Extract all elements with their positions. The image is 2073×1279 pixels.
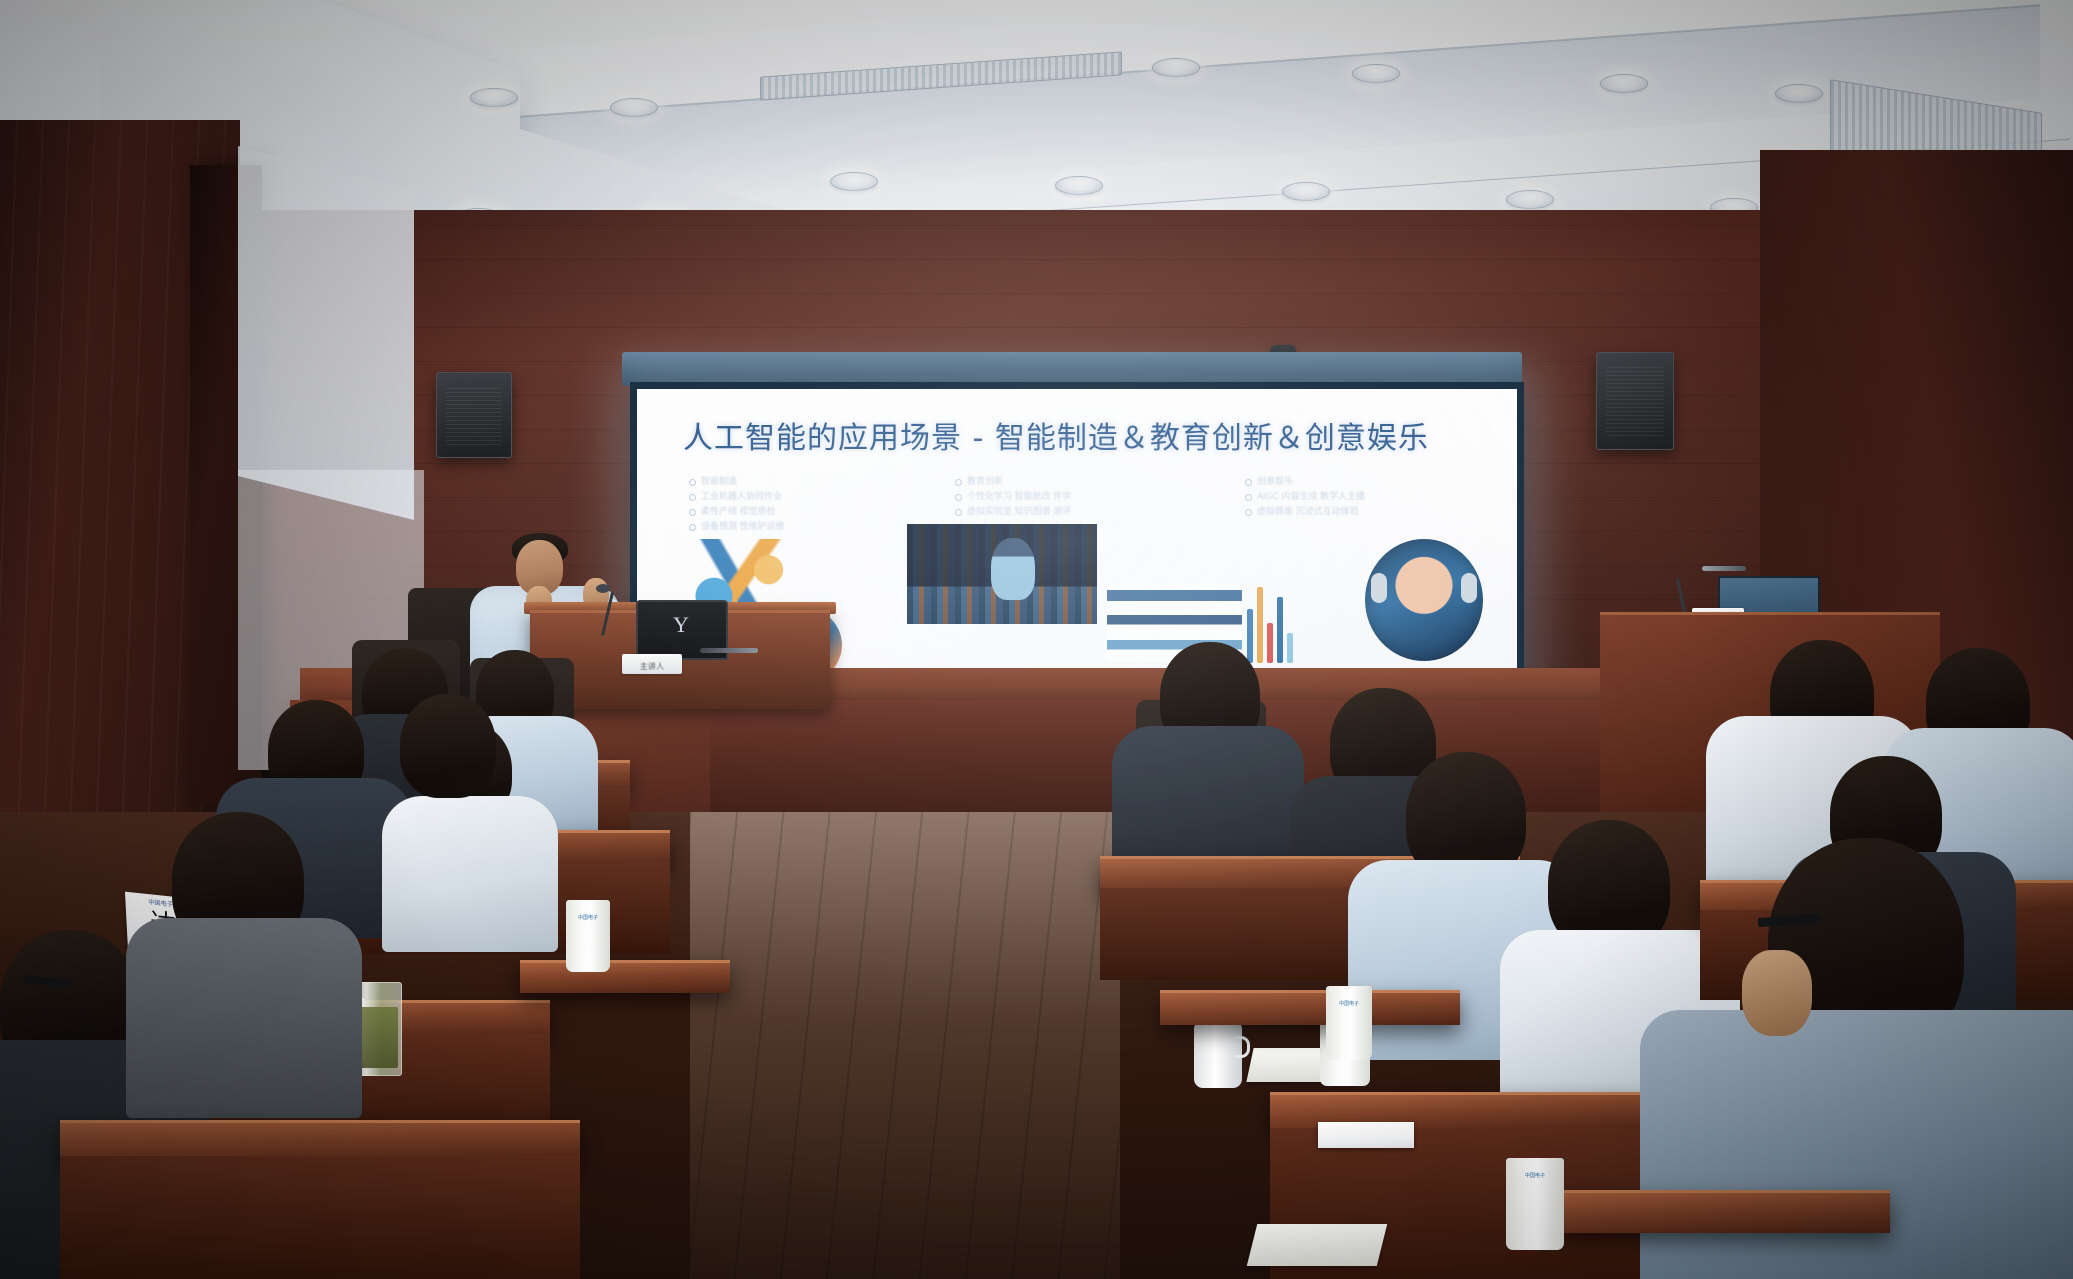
conference-room-photo: 人工智能的应用场景 - 智能制造＆教育创新＆创意娱乐 智能制造 工业机器人协同作… bbox=[0, 0, 2073, 1279]
audience-torso bbox=[1640, 1010, 2073, 1279]
ai-digital-human-avatar-illustration bbox=[1365, 539, 1483, 661]
left-wall-light-panel bbox=[238, 146, 414, 520]
downlight-icon bbox=[470, 88, 518, 107]
desk bbox=[1560, 1190, 1890, 1233]
paper-cup: 中国电子 bbox=[1506, 1158, 1564, 1250]
paper-cup: 中国电子 bbox=[566, 900, 610, 972]
downlight-icon bbox=[1055, 176, 1103, 195]
slide-column-2: 教育创新 个性化学习 智能批改 伴学 虚拟实验室 知识图谱 测评 bbox=[955, 475, 1165, 520]
downlight-icon bbox=[1282, 182, 1330, 201]
slide-col2-bullet-2: 虚拟实验室 知识图谱 测评 bbox=[967, 505, 1071, 518]
paper-cup: 中国电子 bbox=[1326, 986, 1372, 1060]
audience-head bbox=[400, 694, 496, 798]
audience-torso bbox=[382, 796, 558, 952]
desk bbox=[1160, 990, 1460, 1025]
ceiling-speaker-left bbox=[436, 372, 512, 458]
ceramic-mug bbox=[1194, 1024, 1242, 1088]
microphone-icon bbox=[596, 584, 610, 593]
downlight-icon bbox=[830, 172, 878, 191]
slide-col1-heading: 智能制造 bbox=[701, 475, 737, 488]
student-studying-illustration bbox=[907, 524, 1097, 624]
bullet-dot-icon bbox=[1245, 479, 1252, 486]
bullet-dot-icon bbox=[689, 524, 696, 531]
cup-logo-text: 中国电子 bbox=[1506, 1172, 1564, 1179]
slide-col3-heading: 创意娱乐 bbox=[1257, 475, 1293, 488]
screen-mount-rail bbox=[622, 352, 1522, 386]
bullet-dot-icon bbox=[955, 479, 962, 486]
audience-hand bbox=[1742, 950, 1812, 1036]
presenter-nameplate-text: 主讲人 bbox=[622, 657, 682, 677]
downlight-icon bbox=[1506, 190, 1554, 209]
downlight-icon bbox=[1600, 74, 1648, 93]
center-aisle bbox=[690, 812, 1120, 1279]
nameplate bbox=[1318, 1122, 1414, 1148]
cup-logo-text: 中国电子 bbox=[1326, 1000, 1372, 1007]
color-bars-illustration bbox=[1247, 579, 1293, 663]
slide-col3-bullet-2: 虚拟偶像 沉浸式互动体验 bbox=[1257, 505, 1359, 518]
bullet-dot-icon bbox=[1245, 494, 1252, 501]
downlight-icon bbox=[610, 98, 658, 117]
slide-column-1: 智能制造 工业机器人协同作业 柔性产线 视觉质检 设备预测 性维护运维 bbox=[689, 475, 869, 535]
desk bbox=[520, 960, 730, 993]
bullet-dot-icon bbox=[955, 509, 962, 516]
lectern-lamp-icon bbox=[1702, 566, 1746, 571]
presenter-nameplate: 主讲人 bbox=[622, 654, 682, 674]
table-microphone-icon bbox=[700, 648, 758, 653]
notepad bbox=[1247, 1224, 1387, 1266]
slide-col2-bullet-1: 个性化学习 智能批改 伴学 bbox=[967, 490, 1071, 503]
downlight-icon bbox=[1152, 58, 1200, 77]
laptop-brand-logo: Y bbox=[668, 612, 694, 638]
bullet-dot-icon bbox=[689, 494, 696, 501]
slide-col1-bullet-3: 设备预测 性维护运维 bbox=[701, 520, 785, 533]
slide-col1-bullet-2: 柔性产线 视觉质检 bbox=[701, 505, 776, 518]
slide-col2-heading: 教育创新 bbox=[967, 475, 1003, 488]
bullet-dot-icon bbox=[955, 494, 962, 501]
desk-panel bbox=[60, 1156, 580, 1279]
ceiling-speaker-right bbox=[1596, 352, 1674, 450]
slide-col1-bullet-1: 工业机器人协同作业 bbox=[701, 490, 782, 503]
bullet-dot-icon bbox=[689, 509, 696, 516]
slide-col3-bullet-1: AIGC 内容生成 数字人主播 bbox=[1257, 490, 1365, 503]
slide-column-3: 创意娱乐 AIGC 内容生成 数字人主播 虚拟偶像 沉浸式互动体验 bbox=[1245, 475, 1465, 520]
bullet-dot-icon bbox=[689, 479, 696, 486]
downlight-icon bbox=[1352, 64, 1400, 83]
slide-title: 人工智能的应用场景 - 智能制造＆教育创新＆创意娱乐 bbox=[683, 413, 1491, 457]
audience-torso bbox=[126, 918, 362, 1118]
downlight-icon bbox=[1775, 84, 1823, 103]
cup-logo-text: 中国电子 bbox=[566, 914, 610, 921]
bullet-dot-icon bbox=[1245, 509, 1252, 516]
